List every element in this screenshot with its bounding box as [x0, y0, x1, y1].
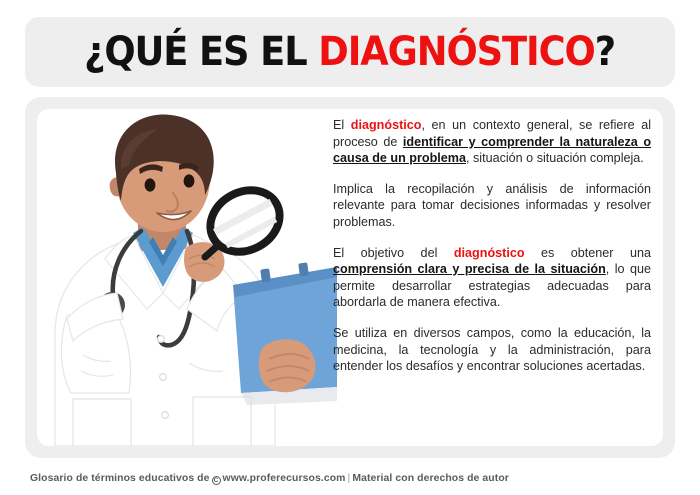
- footer-part1: Glosario de términos educativos de: [30, 473, 210, 484]
- p3-underlined: comprensión clara y precisa de la situac…: [333, 262, 606, 276]
- title-suffix: ?: [595, 29, 615, 75]
- paragraph-1: El diagnóstico, en un contexto general, …: [333, 117, 651, 167]
- content-card: El diagnóstico, en un contexto general, …: [25, 97, 675, 458]
- doctor-illustration: [37, 109, 337, 446]
- footer-attribution: Glosario de términos educativos deCwww.p…: [30, 473, 509, 485]
- p1-part3: , situación o situación compleja.: [466, 151, 644, 165]
- body-text: El diagnóstico, en un contexto general, …: [333, 117, 651, 375]
- title-highlight: DIAGNÓSTICO: [319, 29, 595, 75]
- p3-part1: El objetivo del: [333, 246, 454, 260]
- infographic-page: ¿QUÉ ES EL DIAGNÓSTICO?: [0, 0, 700, 495]
- p1-part1: El: [333, 118, 351, 132]
- p3-part2: es obtener una: [525, 246, 651, 260]
- copyright-icon: C: [212, 476, 221, 485]
- title-prefix: ¿QUÉ ES EL: [85, 29, 319, 75]
- page-title: ¿QUÉ ES EL DIAGNÓSTICO?: [85, 32, 616, 72]
- content-inner-panel: El diagnóstico, en un contexto general, …: [37, 109, 663, 446]
- paragraph-4: Se utiliza en diversos campos, como la e…: [333, 325, 651, 375]
- footer-site[interactable]: www.proferecursos.com: [223, 473, 346, 484]
- footer-part2: Material con derechos de autor: [352, 473, 509, 484]
- paragraph-2: Implica la recopilación y análisis de in…: [333, 181, 651, 231]
- p3-keyword: diagnóstico: [454, 246, 525, 260]
- footer: Glosario de términos educativos deCwww.p…: [0, 462, 700, 495]
- p1-keyword: diagnóstico: [351, 118, 422, 132]
- paragraph-3: El objetivo del diagnóstico es obtener u…: [333, 245, 651, 311]
- title-bar: ¿QUÉ ES EL DIAGNÓSTICO?: [25, 17, 675, 87]
